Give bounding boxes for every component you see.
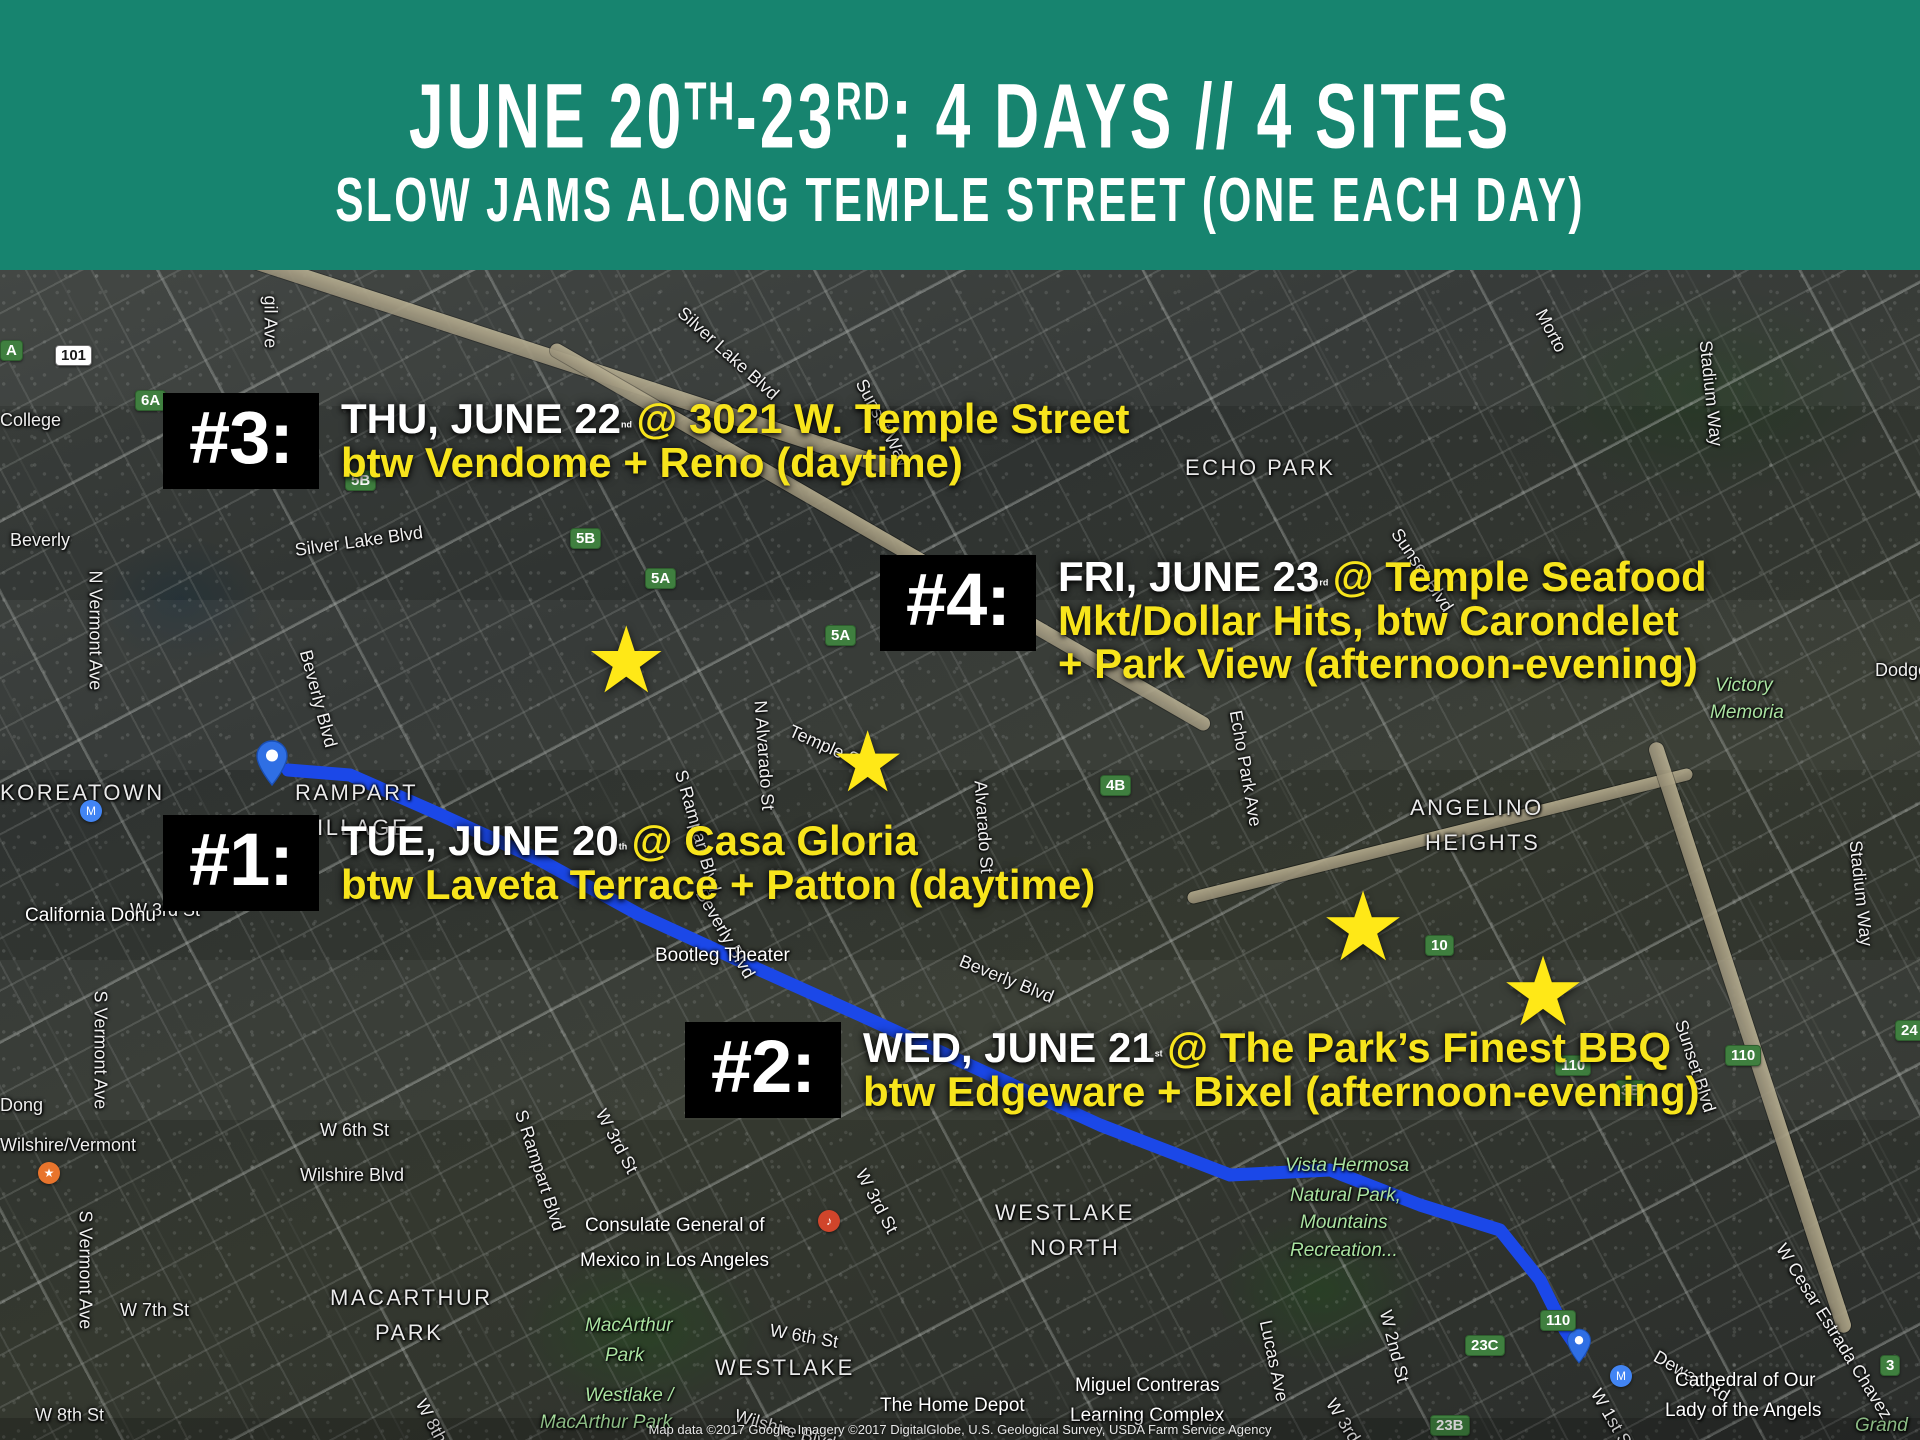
highway-shield: 101 [55, 345, 92, 366]
map-poi-label: MacArthur [585, 1315, 673, 1337]
callout-1-cross-streets: btw Laveta Terrace + Patton (daytime) [341, 861, 1095, 908]
site-star-marker[interactable]: ★ [1320, 880, 1406, 976]
map-street-label: N Vermont Ave [85, 571, 106, 691]
map-place-label: RAMPART [295, 780, 418, 806]
map-place-label: HEIGHTS [1425, 830, 1540, 856]
map-poi-label: Recreation... [1290, 1240, 1398, 1262]
highway-shield: 5A [825, 625, 856, 646]
map-street-label: W 7th St [120, 1300, 189, 1321]
callout-4-date-sup: rd [1319, 577, 1328, 587]
map-street-label: College [0, 410, 61, 431]
map-poi-label: Westlake / [585, 1385, 673, 1407]
callout-3-text: THU, JUNE 22nd @ 3021 W. Temple Street b… [319, 393, 1130, 489]
map-place-label: ANGELINO [1410, 795, 1544, 821]
highway-shield: 23C [1465, 1335, 1505, 1356]
callout-2-line1: WED, JUNE 21st @ The Park’s Finest BBQ [863, 1026, 1700, 1070]
header-line1-sup2: rd [836, 72, 891, 132]
map-poi-label: Park [605, 1345, 644, 1367]
callout-site-1[interactable]: #1: TUE, JUNE 20th @ Casa Gloria btw Lav… [163, 815, 1095, 911]
map-street-label: W 6th St [320, 1120, 389, 1141]
map-poi-label: Mexico in Los Angeles [580, 1250, 769, 1272]
highway-shield: 5A [645, 568, 676, 589]
highway-shield: 110 [1540, 1310, 1576, 1331]
map-street-label: Wilshire/Vermont [0, 1135, 136, 1156]
route-end-pin[interactable] [1566, 1328, 1592, 1364]
map-street-label: Beverly [10, 530, 70, 551]
map-poi-label: Memoria [1710, 702, 1784, 724]
callout-1-venue: @ Casa Gloria [632, 817, 918, 864]
highway-shield: 24 [1895, 1020, 1920, 1041]
highway-shield: 10 [1425, 935, 1454, 956]
callout-2-line2: btw Edgeware + Bixel (afternoon-evening) [863, 1070, 1700, 1114]
map-place-label: PARK [375, 1320, 443, 1346]
callout-site-2[interactable]: #2: WED, JUNE 21st @ The Park’s Finest B… [685, 1022, 1700, 1118]
map-place-label: WESTLAKE [715, 1355, 855, 1381]
callout-3-line1: THU, JUNE 22nd @ 3021 W. Temple Street [341, 397, 1130, 441]
callout-3-cross-streets: btw Vendome + Reno (daytime) [341, 439, 963, 486]
callout-4-text: FRI, JUNE 23rd @ Temple Seafood Mkt/Doll… [1036, 555, 1707, 686]
route-start-pin[interactable] [255, 740, 289, 786]
callout-4-date: FRI, JUNE 23 [1058, 553, 1319, 600]
callout-1-text: TUE, JUNE 20th @ Casa Gloria btw Laveta … [319, 815, 1095, 911]
header-line1-post: : 4 Days // 4 Sites [891, 64, 1511, 168]
poster-root: June 20th-23rd: 4 Days // 4 Sites Slow J… [0, 0, 1920, 1440]
callout-2-cross-streets: btw Edgeware + Bixel (afternoon-evening) [863, 1068, 1700, 1115]
callout-3-date-sup: nd [621, 420, 632, 430]
callout-2-text: WED, JUNE 21st @ The Park’s Finest BBQ b… [841, 1022, 1700, 1118]
callout-site-4[interactable]: #4: FRI, JUNE 23rd @ Temple Seafood Mkt/… [880, 555, 1707, 686]
callout-4-line2: Mkt/Dollar Hits, btw Carondelet [1058, 599, 1707, 643]
highway-shield: 6A [135, 390, 166, 411]
map-place-label: MACARTHUR [330, 1285, 493, 1311]
header-subtitle: Slow Jams Along Temple Street (one each … [335, 165, 1585, 236]
highway-shield: 3 [1880, 1355, 1900, 1376]
callout-1-line2: btw Laveta Terrace + Patton (daytime) [341, 863, 1095, 907]
map-poi-label: Bootleg Theater [655, 945, 790, 967]
site-star-marker[interactable]: ★ [585, 615, 667, 707]
map-street-label: Dong [0, 1095, 43, 1116]
callout-3-venue: @ 3021 W. Temple Street [636, 395, 1129, 442]
callout-site-3[interactable]: #3: THU, JUNE 22nd @ 3021 W. Temple Stre… [163, 393, 1129, 489]
header-line1-pre: June 20 [409, 64, 685, 168]
header-title-line1: June 20th-23rd: 4 Days // 4 Sites [409, 53, 1512, 166]
map-poi-label: Miguel Contreras [1075, 1375, 1220, 1397]
callout-4-venue: @ Temple Seafood [1333, 553, 1707, 600]
callout-2-date: WED, JUNE 21 [863, 1024, 1155, 1071]
highway-shield: 5B [570, 528, 601, 549]
map-poi-label: Consulate General of [585, 1215, 765, 1237]
callout-4-badge: #4: [880, 555, 1036, 651]
callout-3-date: THU, JUNE 22 [341, 395, 621, 442]
map-street-label: S Vermont Ave [90, 991, 111, 1110]
callout-4-cross-streets: + Park View (afternoon-evening) [1058, 640, 1698, 687]
map-poi-label: Vista Hermosa [1285, 1155, 1409, 1177]
highway-shield: 4B [1100, 775, 1131, 796]
callout-2-venue: @ The Park’s Finest BBQ [1167, 1024, 1671, 1071]
callout-2-date-sup: st [1155, 1049, 1163, 1059]
map-street-label: Wilshire Blvd [300, 1165, 404, 1186]
map-street-label: S Vermont Ave [75, 1211, 96, 1330]
callout-2-badge: #2: [685, 1022, 841, 1118]
highway-shield: 110 [1725, 1045, 1761, 1066]
map-place-label: KOREATOWN [0, 780, 165, 806]
map-poi-label: Mountains [1300, 1212, 1388, 1234]
map-place-label: ECHO PARK [1185, 455, 1335, 481]
map-attribution: Map data ©2017 Google, Imagery ©2017 Dig… [0, 1418, 1920, 1440]
callout-3-line2: btw Vendome + Reno (daytime) [341, 441, 1130, 485]
callout-1-badge: #1: [163, 815, 319, 911]
site-star-marker[interactable]: ★ [830, 720, 905, 804]
callout-4-line1: FRI, JUNE 23rd @ Temple Seafood [1058, 555, 1707, 599]
map-poi-label: Victory [1715, 675, 1773, 697]
map-street-label: Dodger [1875, 660, 1920, 681]
poi-icon-transit[interactable]: M [1610, 1365, 1632, 1387]
map-street-label: gil Ave [260, 296, 281, 349]
callout-3-badge: #3: [163, 393, 319, 489]
map-place-label: NORTH [1030, 1235, 1120, 1261]
map-poi-label: The Home Depot [880, 1395, 1025, 1417]
header-line1-mid: -23 [736, 64, 836, 168]
header-line1-sup1: th [684, 72, 735, 132]
poster-header: June 20th-23rd: 4 Days // 4 Sites Slow J… [0, 0, 1920, 270]
map-poi-label: California Donu [25, 905, 156, 927]
map-poi-label: Cathedral of Our [1675, 1370, 1815, 1392]
callout-1-date: TUE, JUNE 20 [341, 817, 619, 864]
callout-4-line3: + Park View (afternoon-evening) [1058, 642, 1707, 686]
poi-icon-restaurant[interactable]: ★ [38, 1162, 60, 1184]
map-place-label: WESTLAKE [995, 1200, 1135, 1226]
poi-icon-metro-beverly[interactable]: M [80, 800, 102, 822]
highway-shield: A [0, 340, 23, 361]
callout-1-date-sup: th [619, 842, 627, 852]
poi-icon-theater[interactable]: ♪ [818, 1210, 840, 1232]
callout-1-line1: TUE, JUNE 20th @ Casa Gloria [341, 819, 1095, 863]
callout-4-venue-cont: Mkt/Dollar Hits, btw Carondelet [1058, 597, 1679, 644]
map-poi-label: Natural Park, [1290, 1185, 1401, 1207]
